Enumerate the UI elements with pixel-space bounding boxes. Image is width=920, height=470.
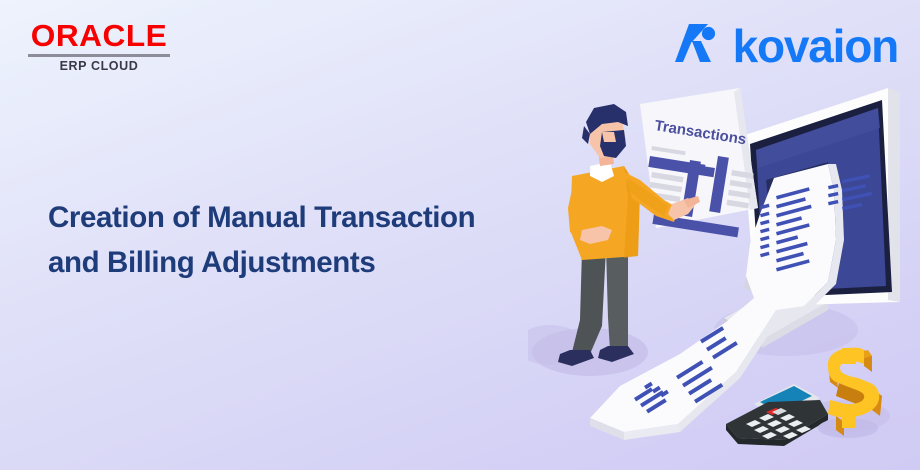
finance-illustration: Transactions [528,0,920,470]
page-title-line-1: Creation of Manual Transaction [48,196,568,241]
page-title-line-2: and Billing Adjustments [48,241,568,286]
calculator-illustration [726,384,828,446]
promo-banner: ORACLE ERP CLOUD kovaion Creation of Man… [0,0,920,470]
page-title: Creation of Manual Transaction and Billi… [48,196,568,286]
oracle-logo-subtitle: ERP CLOUD [28,59,170,73]
dollar-sign-illustration [818,348,882,438]
oracle-erp-cloud-logo: ORACLE ERP CLOUD [28,20,170,73]
oracle-logo-divider [28,54,170,57]
oracle-wordmark: ORACLE [27,20,172,51]
